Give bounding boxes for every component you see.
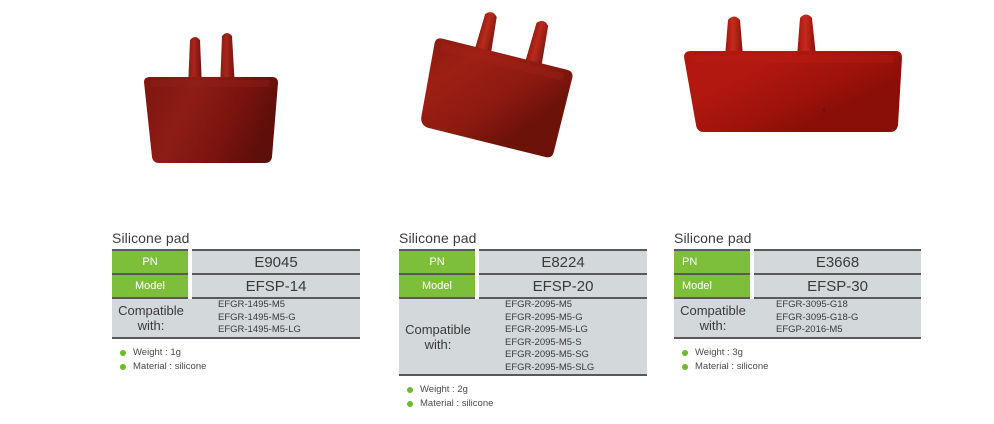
compatible-item: EFGR-2095-M5-G [505,312,647,325]
compatible-item: EFGR-3095-G18 [776,299,921,312]
cell-label-compatible: Compatible with: [112,298,190,338]
cell-value-model: EFSP-20 [477,274,647,298]
compatible-item: EFGR-2095-M5 [505,299,647,312]
note-item-material: Material : silicone [120,360,360,374]
note-text: Weight : 2g [420,383,468,397]
compatible-item: EFGP-2016-M5 [776,324,921,337]
cell-value-model: EFSP-14 [190,274,360,298]
note-text: Weight : 3g [695,346,743,360]
compatible-item: EFGR-3095-G18-G [776,312,921,325]
product-photo-1 [110,0,360,215]
silicone-pad-wide-view-icon [672,0,922,215]
compatible-item: EFGR-2095-M5-SLG [505,362,647,375]
compatible-item: EFGR-1495-M5-LG [218,324,360,337]
table-row-model: Model EFSP-14 [112,274,360,298]
bullet-icon [682,350,688,356]
silicone-pad-front-view-icon [110,0,360,215]
table-row-compatible: Compatible with: EFGR-3095-G18 EFGR-3095… [674,298,921,338]
spec-table: PN E3668 Model EFSP-30 Compatible with: … [674,249,921,339]
note-item-material: Material : silicone [682,360,921,374]
note-item-material: Material : silicone [407,397,647,411]
note-text: Weight : 1g [133,346,181,360]
notes-list: Weight : 2g Material : silicone [399,376,647,411]
cell-label-model: Model [674,274,752,298]
silicone-pad-angled-view-icon [397,0,647,215]
note-text: Material : silicone [133,360,206,374]
spec-table: PN E8224 Model EFSP-20 Compatible with: … [399,249,647,376]
spec-title: Silicone pad [674,230,921,249]
table-row-compatible: Compatible with: EFGR-1495-M5 EFGR-1495-… [112,298,360,338]
table-row-pn: PN E3668 [674,250,921,274]
cell-value-model: EFSP-30 [752,274,921,298]
cell-value-compatible-list: EFGR-2095-M5 EFGR-2095-M5-G EFGR-2095-M5… [477,298,647,375]
note-text: Material : silicone [695,360,768,374]
cell-value-pn: E9045 [190,250,360,274]
spec-block-3: Silicone pad PN E3668 Model EFSP-30 Comp… [674,230,921,374]
bullet-icon [407,387,413,393]
cell-value-pn: E8224 [477,250,647,274]
cell-label-compatible: Compatible with: [674,298,752,338]
product-photo-row [0,0,994,215]
note-item-weight: Weight : 3g [682,346,921,360]
table-row-pn: PN E9045 [112,250,360,274]
cell-label-compatible: Compatible with: [399,298,477,375]
spec-block-2: Silicone pad PN E8224 Model EFSP-20 Comp… [399,230,647,411]
bullet-icon [120,350,126,356]
table-row-pn: PN E8224 [399,250,647,274]
product-photo-2 [397,0,647,215]
compatible-item: EFGR-2095-M5-LG [505,324,647,337]
bullet-icon [407,401,413,407]
note-text: Material : silicone [420,397,493,411]
notes-list: Weight : 1g Material : silicone [112,339,360,374]
cell-label-model: Model [399,274,477,298]
table-row-model: Model EFSP-30 [674,274,921,298]
cell-value-compatible-list: EFGR-3095-G18 EFGR-3095-G18-G EFGP-2016-… [752,298,921,338]
cell-value-compatible-list: EFGR-1495-M5 EFGR-1495-M5-G EFGR-1495-M5… [190,298,360,338]
cell-label-pn: PN [399,250,477,274]
compatible-item: EFGR-1495-M5 [218,299,360,312]
cell-label-pn: PN [674,250,752,274]
note-item-weight: Weight : 2g [407,383,647,397]
compatible-item: EFGR-1495-M5-G [218,312,360,325]
cell-label-pn: PN [112,250,190,274]
spec-block-1: Silicone pad PN E9045 Model EFSP-14 Comp… [112,230,360,374]
note-item-weight: Weight : 1g [120,346,360,360]
bullet-icon [682,364,688,370]
spec-title: Silicone pad [399,230,647,249]
table-row-compatible: Compatible with: EFGR-2095-M5 EFGR-2095-… [399,298,647,375]
cell-value-pn: E3668 [752,250,921,274]
compatible-item: EFGR-2095-M5-SG [505,349,647,362]
spec-title: Silicone pad [112,230,360,249]
cell-label-model: Model [112,274,190,298]
table-row-model: Model EFSP-20 [399,274,647,298]
bullet-icon [120,364,126,370]
notes-list: Weight : 3g Material : silicone [674,339,921,374]
compatible-item: EFGR-2095-M5-S [505,337,647,350]
spec-table: PN E9045 Model EFSP-14 Compatible with: … [112,249,360,339]
product-photo-3 [672,0,922,215]
